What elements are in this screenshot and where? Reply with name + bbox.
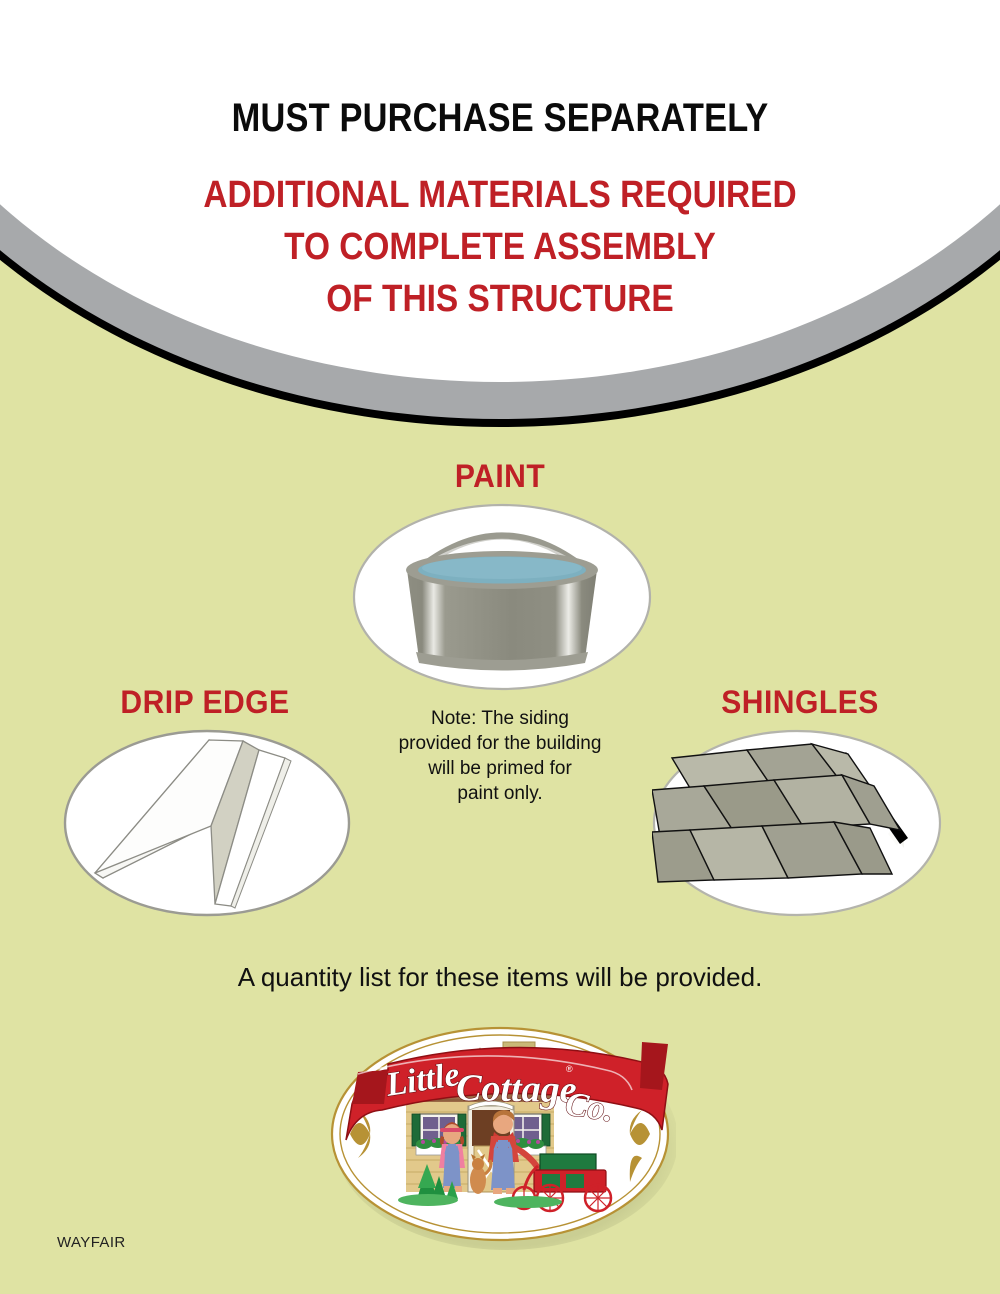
paint-note: Note: The siding provided for the buildi…: [375, 706, 625, 806]
logo-word-cottage: Cottage: [456, 1067, 577, 1111]
logo-registered-mark: ®: [566, 1064, 573, 1074]
paint-note-line-2: provided for the building: [375, 731, 625, 756]
item-label-paint: PAINT: [30, 458, 970, 495]
quantity-list-note: A quantity list for these items will be …: [0, 962, 1000, 993]
item-label-shingles: SHINGLES: [654, 684, 945, 721]
paint-note-line-1: Note: The siding: [375, 706, 625, 731]
paint-note-line-4: paint only.: [375, 781, 625, 806]
page-title: MUST PURCHASE SEPARATELY: [70, 96, 930, 141]
logo-word-co: Co.: [563, 1085, 616, 1129]
header-subtitle-line-1: ADDITIONAL MATERIALS REQUIRED: [60, 169, 940, 221]
little-cottage-co-logo: Little Cottage Co. ®: [328, 1018, 676, 1250]
poster-page: MUST PURCHASE SEPARATELY ADDITIONAL MATE…: [0, 0, 1000, 1294]
drip-edge-icon: [63, 728, 351, 918]
header-subtitle-line-2: TO COMPLETE ASSEMBLY: [60, 221, 940, 273]
header-subtitle: ADDITIONAL MATERIALS REQUIRED TO COMPLET…: [60, 169, 940, 325]
shingles-icon: [652, 728, 942, 918]
header-arc-banner: MUST PURCHASE SEPARATELY ADDITIONAL MATE…: [0, 0, 1000, 440]
header-text-block: MUST PURCHASE SEPARATELY ADDITIONAL MATE…: [0, 0, 1000, 325]
paint-note-line-3: will be primed for: [375, 756, 625, 781]
logo-graphic: Little Cottage Co. ®: [328, 1018, 676, 1250]
item-label-drip-edge: DRIP EDGE: [59, 684, 350, 721]
header-subtitle-line-3: OF THIS STRUCTURE: [60, 273, 940, 325]
paint-bucket-icon: [352, 502, 652, 692]
wayfair-watermark: WAYFAIR: [57, 1234, 126, 1251]
